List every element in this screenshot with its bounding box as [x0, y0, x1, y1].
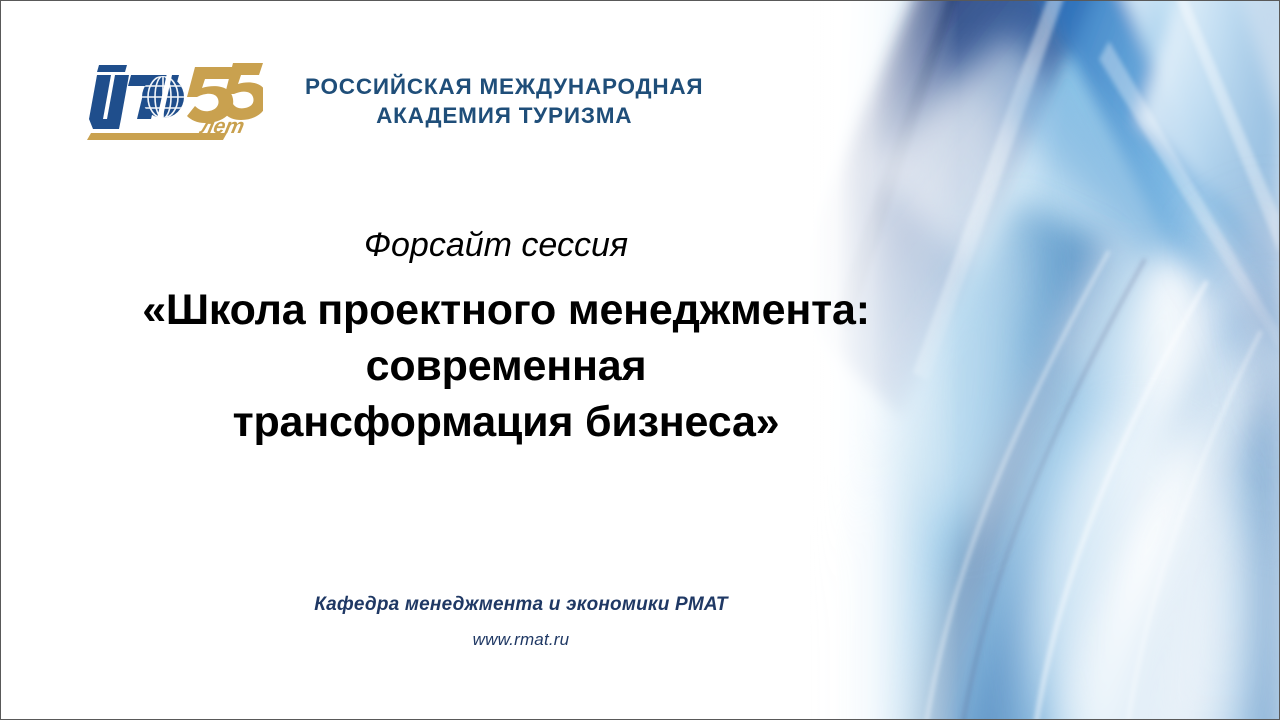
event-subtitle: Форсайт сессия [1, 225, 991, 266]
org-name-line1: РОССИЙСКАЯ МЕЖДУНАРОДНАЯ [305, 74, 703, 99]
rmat-55-years-logo-icon: лет [87, 53, 263, 149]
org-name-line2: АКАДЕМИЯ ТУРИЗМА [305, 101, 703, 130]
organization-name: РОССИЙСКАЯ МЕЖДУНАРОДНАЯ АКАДЕМИЯ ТУРИЗМ… [305, 72, 703, 131]
title-line-2: современная [1, 339, 1011, 395]
website-url[interactable]: www.rmat.ru [1, 630, 1041, 650]
slide-header: лет РОССИЙСКАЯ МЕЖДУНАРОДНАЯ АКАДЕМИЯ ТУ… [87, 53, 703, 149]
slide-title: «Школа проектного менеджмента: современн… [1, 283, 1011, 451]
slide-footer: Кафедра менеджмента и экономики РМАТ www… [1, 594, 1041, 650]
presentation-slide: лет РОССИЙСКАЯ МЕЖДУНАРОДНАЯ АКАДЕМИЯ ТУ… [0, 0, 1280, 720]
title-line-1: «Школа проектного менеджмента: [1, 283, 1011, 339]
title-line-3: трансформация бизнеса» [1, 395, 1011, 451]
department-name: Кафедра менеджмента и экономики РМАТ [1, 594, 1041, 617]
